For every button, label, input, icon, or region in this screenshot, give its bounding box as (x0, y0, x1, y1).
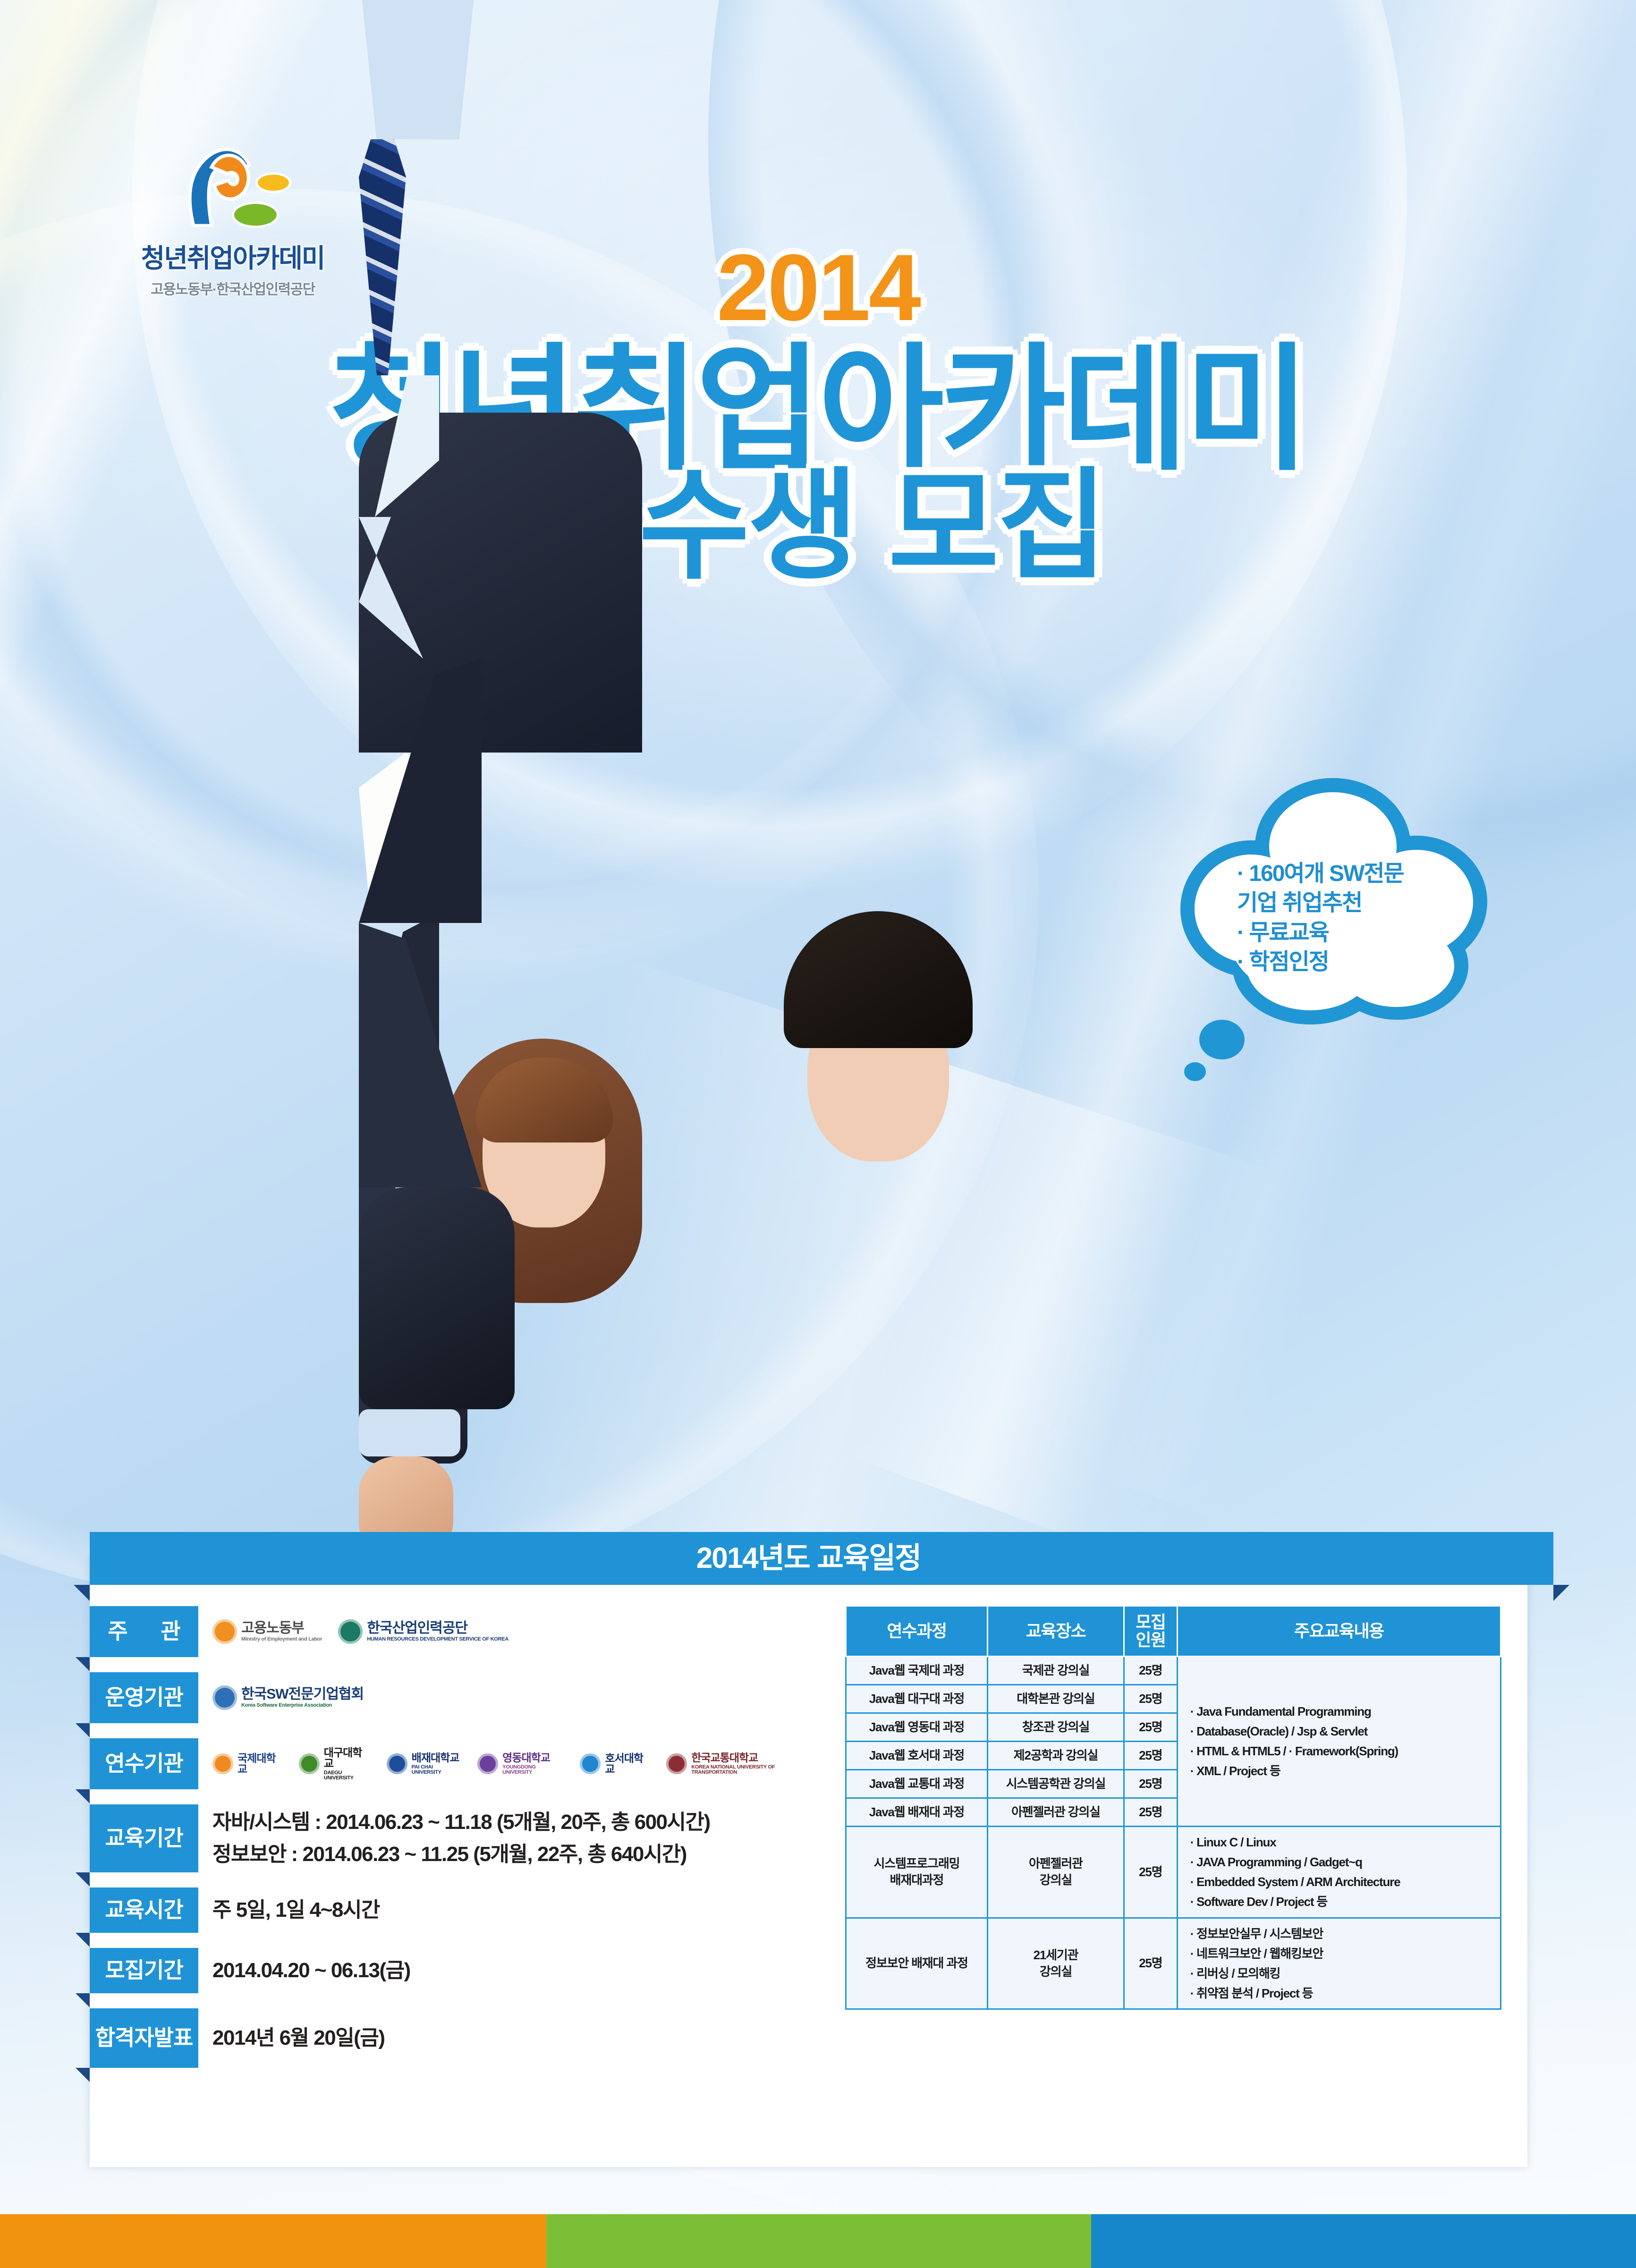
org-logo-mark-icon (212, 1619, 237, 1644)
bubble-line: · 학점인정 (1237, 948, 1435, 977)
org-logo-strip: 한국SW전문기업협회Korea Software Enterprise Asso… (198, 1685, 364, 1710)
logo-orange-stroke-icon (208, 151, 264, 212)
info-row: 모집기간2014.04.20 ~ 06.13(금) (90, 1942, 817, 1999)
bottom-color-stripe (0, 2214, 1636, 2268)
info-row-label: 운영기관 (90, 1672, 198, 1723)
stripe-segment (0, 2214, 546, 2268)
cell-place: 제2공학과 강의실 (987, 1741, 1124, 1769)
banner-fold-right (1553, 1585, 1569, 1601)
logo-green-dot-icon (234, 204, 277, 226)
bubble-benefits-text: · 160여개 SW전문 기업 취업추천 · 무료교육 · 학점인정 (1237, 859, 1435, 977)
info-row: 주 관고용노동부Ministry of Employment and Labor… (90, 1600, 817, 1663)
info-row: 연수기관국제대학교대구대학교DAEGU UNIVERSITY배재대학교PAI C… (90, 1733, 817, 1795)
table-row: Java웹 국제대 과정국제관 강의실25명· Java Fundamental… (846, 1656, 1501, 1684)
info-row-label: 교육시간 (90, 1887, 198, 1933)
table-row: 시스템프로그래밍배재대과정아펜젤러관강의실25명· Linux C / Linu… (846, 1827, 1501, 1918)
logo-mark-icon (155, 146, 311, 236)
cell-place: 창조관 강의실 (987, 1713, 1124, 1741)
org-logo: 배재대학교PAI CHAI UNIVERSITY (387, 1752, 462, 1775)
org-logo: 한국산업인력공단HUMAN RESOURCES DEVELOPMENT SERV… (338, 1619, 509, 1644)
info-row: 교육기간자바/시스템 : 2014.06.23 ~ 11.18 (5개월, 20… (90, 1799, 817, 1878)
bubble-tail-small (1184, 1062, 1206, 1081)
info-row-label: 모집기간 (90, 1948, 198, 1993)
info-row-value: 주 5일, 1일 4~8시간 (198, 1894, 817, 1926)
th-quota: 모집인원 (1124, 1606, 1178, 1657)
info-row: 교육시간주 5일, 1일 4~8시간 (90, 1882, 817, 1938)
cell-course: Java웹 대구대 과정 (846, 1684, 988, 1713)
info-row-label: 주 관 (90, 1606, 198, 1657)
org-logo-mark-icon (666, 1753, 687, 1774)
org-logo-mark-icon (338, 1619, 363, 1644)
schedule-banner: 2014년도 교육일정 (90, 1532, 1553, 1585)
org-logo-mark-icon (387, 1753, 407, 1774)
info-row-value: 2014.04.20 ~ 06.13(금) (198, 1955, 817, 1987)
bubble-line: 기업 취업추천 (1237, 889, 1435, 918)
logo-title: 청년취업아카데미 (117, 237, 348, 275)
org-logo-name: 한국교통대학교KOREA NATIONAL UNIVERSITY OF TRAN… (691, 1752, 817, 1775)
org-logo-name: 국제대학교 (237, 1753, 283, 1775)
cell-quota: 25명 (1124, 1656, 1178, 1684)
cell-quota: 25명 (1124, 1918, 1178, 2009)
course-table: 연수과정 교육장소 모집인원 주요교육내용 Java웹 국제대 과정국제관 강의… (845, 1605, 1501, 2010)
cell-place: 21세기관강의실 (987, 1918, 1124, 2009)
cell-quota: 25명 (1124, 1713, 1178, 1741)
org-logo-mark-icon (212, 1685, 237, 1710)
poster-root: 청년취업아카데미 고용노동부·한국산업인력공단 2014 청년취업아카데미 연수… (0, 0, 1636, 2268)
org-logo-mark-icon (580, 1753, 601, 1774)
cell-quota: 25명 (1124, 1827, 1178, 1918)
org-logo: 호서대학교 (580, 1753, 650, 1775)
org-logo-name: 한국SW전문기업협회Korea Software Enterprise Asso… (241, 1687, 364, 1708)
th-place: 교육장소 (987, 1606, 1124, 1657)
org-logo: 대구대학교DAEGU UNIVERSITY (299, 1747, 371, 1781)
logo-yellow-dot-icon (258, 175, 289, 191)
man-figure (359, 0, 831, 1558)
info-row-value: 자바/시스템 : 2014.06.23 ~ 11.18 (5개월, 20주, 총… (198, 1806, 817, 1870)
info-rows: 주 관고용노동부Ministry of Employment and Labor… (90, 1600, 817, 2077)
schedule-banner-title: 2014년도 교육일정 (90, 1532, 1527, 1585)
cell-content: · 정보보안실무 / 시스템보안· 네트워크보안 / 웹해킹보안· 리버싱 / … (1177, 1918, 1500, 2009)
table-header-row: 연수과정 교육장소 모집인원 주요교육내용 (846, 1606, 1501, 1657)
cell-course: Java웹 국제대 과정 (846, 1656, 988, 1684)
cell-quota: 25명 (1124, 1684, 1178, 1713)
org-logo-name: 한국산업인력공단HUMAN RESOURCES DEVELOPMENT SERV… (367, 1621, 509, 1642)
cell-course: Java웹 호서대 과정 (846, 1741, 988, 1769)
cell-course: Java웹 영동대 과정 (846, 1713, 988, 1741)
stripe-segment (546, 2214, 1091, 2268)
cell-place: 국제관 강의실 (987, 1656, 1124, 1684)
cell-course: Java웹 교통대 과정 (846, 1769, 988, 1798)
table-row: 정보보안 배재대 과정21세기관강의실25명· 정보보안실무 / 시스템보안· … (846, 1918, 1501, 2009)
cell-place: 아펜젤러관강의실 (987, 1827, 1124, 1918)
bubble-line: · 160여개 SW전문 (1237, 859, 1435, 889)
org-logo-name: 호서대학교 (605, 1753, 650, 1775)
info-row-label: 연수기관 (90, 1738, 198, 1789)
cell-course: 시스템프로그래밍배재대과정 (846, 1827, 988, 1918)
program-logo: 청년취업아카데미 고용노동부·한국산업인력공단 (117, 146, 348, 298)
org-logo-strip: 고용노동부Ministry of Employment and Labor한국산… (198, 1619, 509, 1644)
info-row-label: 합격자발표 (90, 2008, 198, 2068)
banner-fold-left (74, 1585, 90, 1601)
org-logo-name: 배재대학교PAI CHAI UNIVERSITY (412, 1752, 462, 1775)
course-table-body: Java웹 국제대 과정국제관 강의실25명· Java Fundamental… (846, 1656, 1501, 2009)
course-table-head: 연수과정 교육장소 모집인원 주요교육내용 (846, 1606, 1501, 1657)
logo-subtitle: 고용노동부·한국산업인력공단 (117, 278, 348, 298)
cell-quota: 25명 (1124, 1769, 1178, 1798)
info-row: 합격자발표2014년 6월 20일(금) (90, 2003, 817, 2073)
thought-bubble: · 160여개 SW전문 기업 취업추천 · 무료교육 · 학점인정 (1171, 770, 1492, 1043)
cell-place: 아펜젤러관 강의실 (987, 1798, 1124, 1827)
org-logo-name: 대구대학교DAEGU UNIVERSITY (324, 1747, 371, 1781)
org-logo: 한국SW전문기업협회Korea Software Enterprise Asso… (212, 1685, 364, 1710)
cell-place: 대학본관 강의실 (987, 1684, 1124, 1713)
cell-course: Java웹 배재대 과정 (846, 1798, 988, 1827)
cell-course: 정보보안 배재대 과정 (846, 1918, 988, 2009)
org-logo-name: 영동대학교YOUNGDONG UNIVERSITY (502, 1752, 564, 1775)
org-logo-name: 고용노동부Ministry of Employment and Labor (241, 1621, 322, 1642)
cell-quota: 25명 (1124, 1798, 1178, 1827)
th-course: 연수과정 (846, 1606, 988, 1657)
stripe-segment (1091, 2214, 1636, 2268)
org-logo: 영동대학교YOUNGDONG UNIVERSITY (477, 1752, 564, 1775)
org-logo: 국제대학교 (212, 1753, 283, 1775)
cell-place: 시스템공학관 강의실 (987, 1769, 1124, 1798)
org-logo-strip: 국제대학교대구대학교DAEGU UNIVERSITY배재대학교PAI CHAI … (198, 1747, 817, 1781)
th-content: 주요교육내용 (1177, 1606, 1500, 1657)
cell-content: · Linux C / Linux· JAVA Programming / Ga… (1177, 1827, 1500, 1918)
org-logo-mark-icon (212, 1753, 233, 1774)
bubble-tail-large (1199, 1020, 1245, 1059)
cell-quota: 25명 (1124, 1741, 1178, 1769)
org-logo-mark-icon (299, 1753, 320, 1774)
org-logo: 한국교통대학교KOREA NATIONAL UNIVERSITY OF TRAN… (666, 1752, 817, 1775)
cell-content: · Java Fundamental Programming· Database… (1177, 1656, 1500, 1827)
info-row: 운영기관한국SW전문기업협회Korea Software Enterprise … (90, 1667, 817, 1729)
info-row-value: 2014년 6월 20일(금) (198, 2022, 817, 2054)
info-row-label: 교육기간 (90, 1804, 198, 1872)
bubble-line: · 무료교육 (1237, 918, 1435, 948)
people-photo (359, 746, 1199, 1558)
org-logo: 고용노동부Ministry of Employment and Labor (212, 1619, 322, 1644)
org-logo-mark-icon (477, 1753, 498, 1774)
